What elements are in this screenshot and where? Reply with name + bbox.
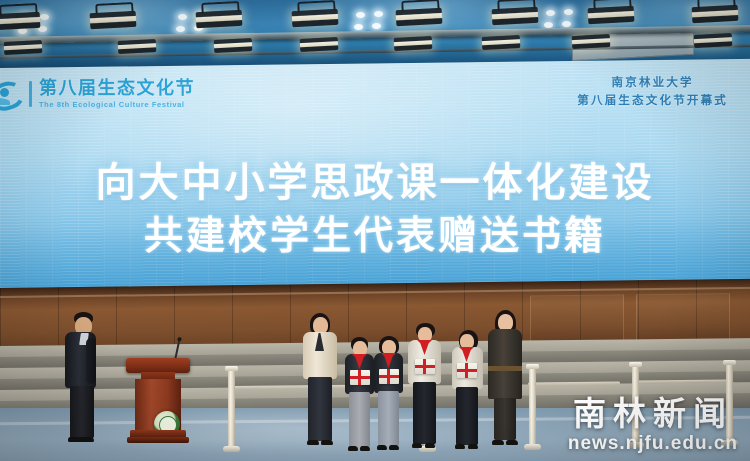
torso-dress (488, 329, 522, 399)
spotlight-dot-icon (546, 10, 555, 16)
main-title-line-2: 共建校学生代表赠送书籍 (0, 210, 750, 264)
stage-light-fixture (118, 39, 157, 54)
shoes (412, 443, 422, 448)
gift-book (415, 359, 435, 374)
person-student-3 (407, 323, 443, 451)
spotlight-dot-icon (374, 11, 383, 17)
stage-light-fixture (694, 33, 733, 48)
legs (70, 386, 94, 438)
podium-body (135, 379, 181, 431)
person-student-4 (451, 330, 485, 452)
stage-light-fixture (692, 5, 739, 23)
festival-title-cn: 第八届生态文化节 (39, 80, 195, 98)
shoes (389, 445, 399, 450)
stanchion-post (228, 370, 235, 448)
stage-light-fixture (396, 8, 443, 26)
shoes (468, 444, 478, 449)
stage-photo: 第八届生态文化节 The 8th Ecological Culture Fest… (0, 0, 750, 461)
spotlight-dot-icon (564, 9, 573, 15)
spotlight-dot-icon (40, 14, 49, 20)
spotlight-dot-icon (544, 22, 553, 28)
festival-subtitle-en: The 8th Ecological Culture Festival (39, 101, 195, 109)
spotlight-dot-icon (178, 14, 187, 20)
spotlight-dot-icon (18, 28, 27, 34)
stage-light-fixture (90, 11, 137, 29)
festival-logo: 第八届生态文化节 The 8th Ecological Culture Fest… (0, 79, 195, 109)
spotlight-dot-icon (356, 12, 365, 18)
spotlight-dot-icon (562, 21, 571, 27)
header-line-2: 第八届生态文化节开幕式 (577, 92, 728, 110)
person-student-2 (373, 336, 405, 453)
shoes (455, 444, 465, 449)
arm (86, 338, 96, 384)
shoes (321, 440, 333, 445)
main-title-line-1: 向大中小学思政课一体化建设 (0, 155, 750, 210)
person-student-1 (344, 337, 376, 453)
stage-light-fixture (572, 34, 611, 49)
stage-light-fixture (300, 37, 339, 52)
shoes (307, 440, 319, 445)
podium-top (126, 358, 190, 373)
spotlight-dot-icon (372, 23, 381, 29)
legs (349, 392, 370, 447)
belt (488, 366, 522, 371)
stage-light-fixture (492, 7, 539, 25)
watermark: 南林新闻 news.njfu.edu.cn (568, 397, 738, 453)
shoes (425, 443, 435, 448)
shoes (360, 446, 370, 451)
legs (456, 387, 478, 445)
legs (413, 382, 436, 444)
stage-light-fixture (292, 9, 339, 27)
gift-book (379, 369, 399, 384)
header-line-1: 南京林业大学 (577, 74, 728, 92)
gift-book (350, 370, 370, 385)
watermark-name: 南林新闻 (568, 397, 738, 430)
legs (494, 398, 516, 440)
gift-book (457, 363, 477, 378)
shoes (348, 446, 358, 451)
person-presenter-right (484, 310, 526, 448)
logo-divider (29, 81, 32, 107)
shoes (506, 440, 518, 445)
shoes (492, 440, 504, 445)
stage-light-fixture (394, 36, 433, 51)
podium (126, 358, 190, 444)
watermark-url: news.njfu.edu.cn (568, 434, 738, 453)
person-presenter-left (300, 313, 340, 447)
stage-light-fixture (214, 38, 253, 53)
event-header: 南京林业大学 第八届生态文化节开幕式 (577, 74, 728, 110)
spotlight-dot-icon (354, 24, 363, 30)
stage-light-fixture (196, 10, 243, 28)
legs (308, 377, 332, 441)
wall-door-panel (636, 293, 730, 342)
stage-light-fixture (482, 35, 521, 50)
stanchion-post (529, 368, 536, 446)
shoes (68, 437, 94, 442)
shoes (377, 445, 387, 450)
stage-light-fixture (0, 12, 40, 30)
main-title: 向大中小学思政课一体化建设 共建校学生代表赠送书籍 (0, 155, 750, 264)
spotlight-dot-icon (176, 26, 185, 32)
wall-door-panel (530, 294, 624, 343)
leaf-swirl-icon (0, 79, 22, 109)
legs (378, 391, 399, 446)
stage-light-fixture (4, 40, 43, 55)
stage-light-fixture (588, 6, 635, 24)
person-host-at-podium (60, 312, 104, 444)
podium-base-plinth (127, 437, 189, 443)
